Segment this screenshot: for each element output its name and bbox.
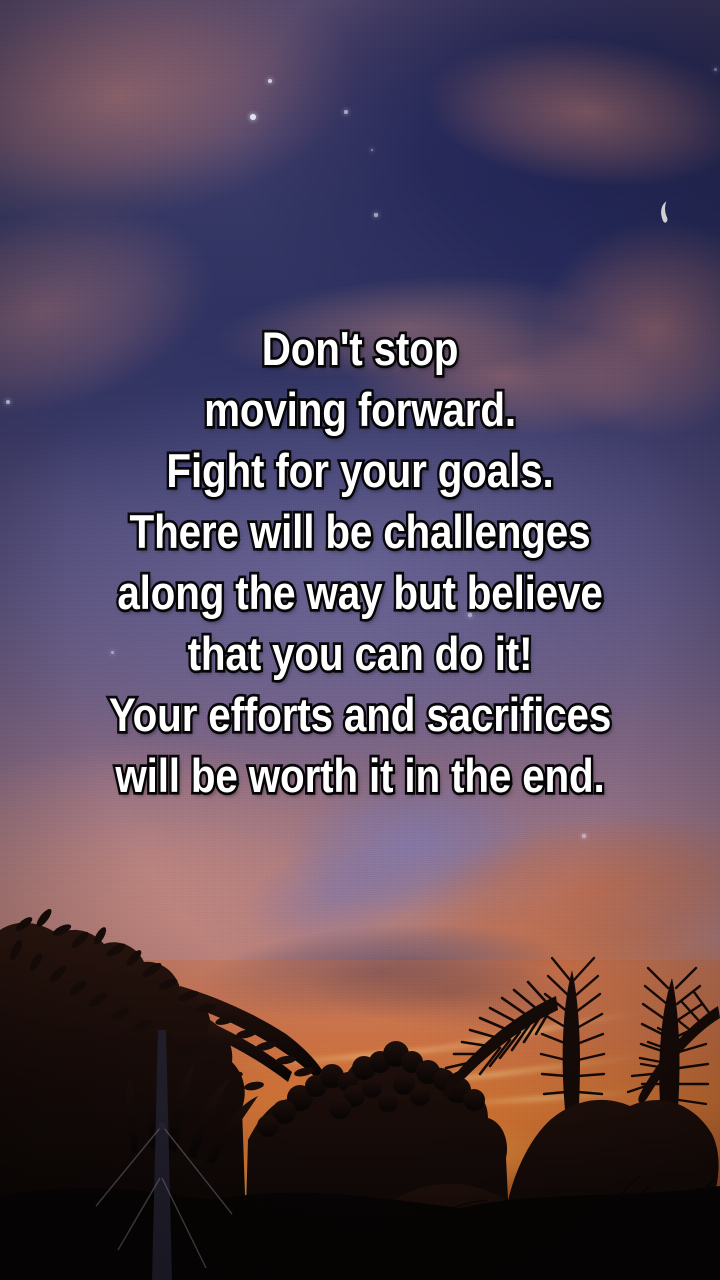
quote-line-4: There will be challenges [50, 501, 669, 562]
wallpaper-canvas: Don't stop moving forward. Fight for you… [0, 0, 720, 1280]
quote-line-2: moving forward. [50, 379, 669, 440]
quote-line-6: that you can do it! [50, 623, 669, 684]
quote-line-8: will be worth it in the end. [50, 745, 669, 806]
quote-block: Don't stop moving forward. Fight for you… [0, 318, 720, 806]
quote-line-3: Fight for your goals. [50, 440, 669, 501]
quote-line-5: along the way but believe [50, 562, 669, 623]
quote-line-1: Don't stop [50, 318, 669, 379]
quote-line-7: Your efforts and sacrifices [50, 684, 669, 745]
